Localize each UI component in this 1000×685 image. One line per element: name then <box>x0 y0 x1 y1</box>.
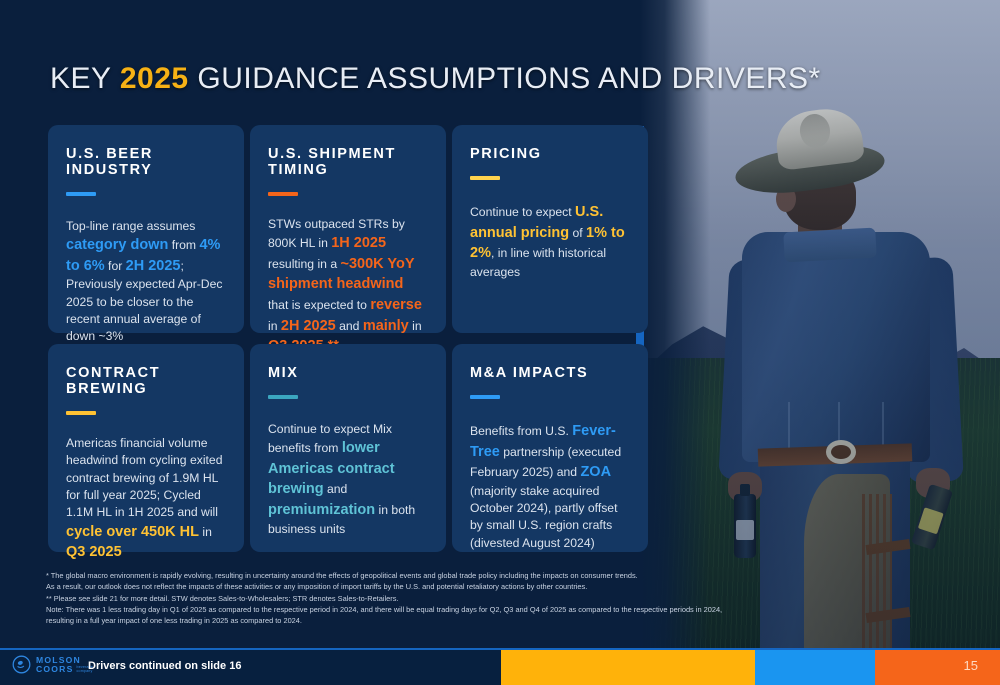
card-accent-bar <box>268 395 298 399</box>
photo-left-fade <box>640 0 710 650</box>
body-text: Continue to expect <box>470 205 575 219</box>
body-highlight: cycle over 450K HL <box>66 524 199 540</box>
card-title: U.S. SHIPMENT TIMING <box>268 147 426 179</box>
footnote-line: ** Please see slide 21 for more detail. … <box>46 593 846 604</box>
card-contract-brewing[interactable]: CONTRACT BREWING Americas financial volu… <box>48 344 244 552</box>
body-text: of <box>569 226 586 240</box>
continued-note: Drivers continued on slide 16 <box>88 660 241 672</box>
page-title: KEY 2025 GUIDANCE ASSUMPTIONS AND DRIVER… <box>50 62 821 96</box>
title-year: 2025 <box>120 62 189 95</box>
molson-coors-logo: MOLSON COORS beverage company <box>12 655 93 674</box>
body-text: in <box>268 319 281 333</box>
footnote-line: resulting in a full year impact of one l… <box>46 615 846 626</box>
card-body: Top-line range assumes category down fro… <box>66 218 224 346</box>
card-title: CONTRACT BREWING <box>66 366 224 398</box>
footnotes: * The global macro environment is rapidl… <box>46 570 846 626</box>
card-body: STWs outpaced STRs by 800K HL in 1H 2025… <box>268 216 426 357</box>
card-accent-bar <box>66 411 96 415</box>
body-highlight: mainly <box>363 318 409 334</box>
body-text: from <box>168 238 199 252</box>
card-title: M&A IMPACTS <box>470 366 628 382</box>
logo-line-2-row: COORS beverage company <box>36 665 93 674</box>
body-text: Benefits from U.S. <box>470 424 572 438</box>
body-text: , in line with historical averages <box>470 246 606 279</box>
card-body: Continue to expect Mix benefits from low… <box>268 421 426 538</box>
body-highlight: Q3 2025 <box>66 544 122 560</box>
card-us-shipment-timing[interactable]: U.S. SHIPMENT TIMING STWs outpaced STRs … <box>250 125 446 333</box>
body-text: in <box>199 525 212 539</box>
body-highlight: ZOA <box>580 464 611 480</box>
card-title: MIX <box>268 366 426 382</box>
body-text: (majority stake acquired October 2024), … <box>470 484 617 550</box>
footnote-line: Note: There was 1 less trading day in Q1… <box>46 604 846 615</box>
molson-coors-mark-icon <box>12 655 31 674</box>
card-accent-bar <box>470 395 500 399</box>
card-accent-bar <box>470 176 500 180</box>
body-text: in <box>409 319 422 333</box>
body-text: Top-line range assumes <box>66 219 195 233</box>
body-highlight: 2H 2025 <box>126 258 181 274</box>
body-text: for <box>105 259 126 273</box>
body-text: and <box>336 319 363 333</box>
title-pre: KEY <box>50 62 120 95</box>
footer-block-blue <box>755 650 875 685</box>
footnote-line: As a result, our outlook does not reflec… <box>46 581 846 592</box>
slide-canvas: KEY 2025 GUIDANCE ASSUMPTIONS AND DRIVER… <box>0 0 1000 685</box>
card-body: Benefits from U.S. Fever-Tree partnershi… <box>470 421 628 552</box>
footer-block-orange <box>875 650 1000 685</box>
footer-block-gold <box>501 650 755 685</box>
body-highlight: 2H 2025 <box>281 318 336 334</box>
card-us-beer-industry[interactable]: U.S. BEER INDUSTRY Top-line range assume… <box>48 125 244 333</box>
body-highlight: category down <box>66 237 168 253</box>
body-text: Americas financial volume headwind from … <box>66 436 223 519</box>
title-post: GUIDANCE ASSUMPTIONS AND DRIVERS* <box>189 62 821 95</box>
card-title: U.S. BEER INDUSTRY <box>66 147 224 179</box>
card-body: Americas financial volume headwind from … <box>66 435 224 563</box>
cowboy-field-photo <box>640 0 1000 650</box>
logo-line-2: COORS <box>36 665 74 674</box>
card-body: Continue to expect U.S. annual pricing o… <box>470 202 628 281</box>
body-highlight: 1H 2025 <box>331 235 386 251</box>
card-accent-bar <box>66 192 96 196</box>
body-highlight: reverse <box>370 297 422 313</box>
card-pricing[interactable]: PRICING Continue to expect U.S. annual p… <box>452 125 648 333</box>
card-title: PRICING <box>470 147 628 163</box>
footnote-line: * The global macro environment is rapidl… <box>46 570 846 581</box>
body-text: that is expected to <box>268 298 370 312</box>
page-number: 15 <box>964 658 978 673</box>
card-accent-bar <box>268 192 298 196</box>
logo-wordmark: MOLSON COORS beverage company <box>36 656 93 674</box>
body-text: and <box>324 482 348 496</box>
body-highlight: premiumization <box>268 502 375 518</box>
body-text: resulting in a <box>268 257 341 271</box>
card-mix[interactable]: MIX Continue to expect Mix benefits from… <box>250 344 446 552</box>
card-ma-impacts[interactable]: M&A IMPACTS Benefits from U.S. Fever-Tre… <box>452 344 648 552</box>
